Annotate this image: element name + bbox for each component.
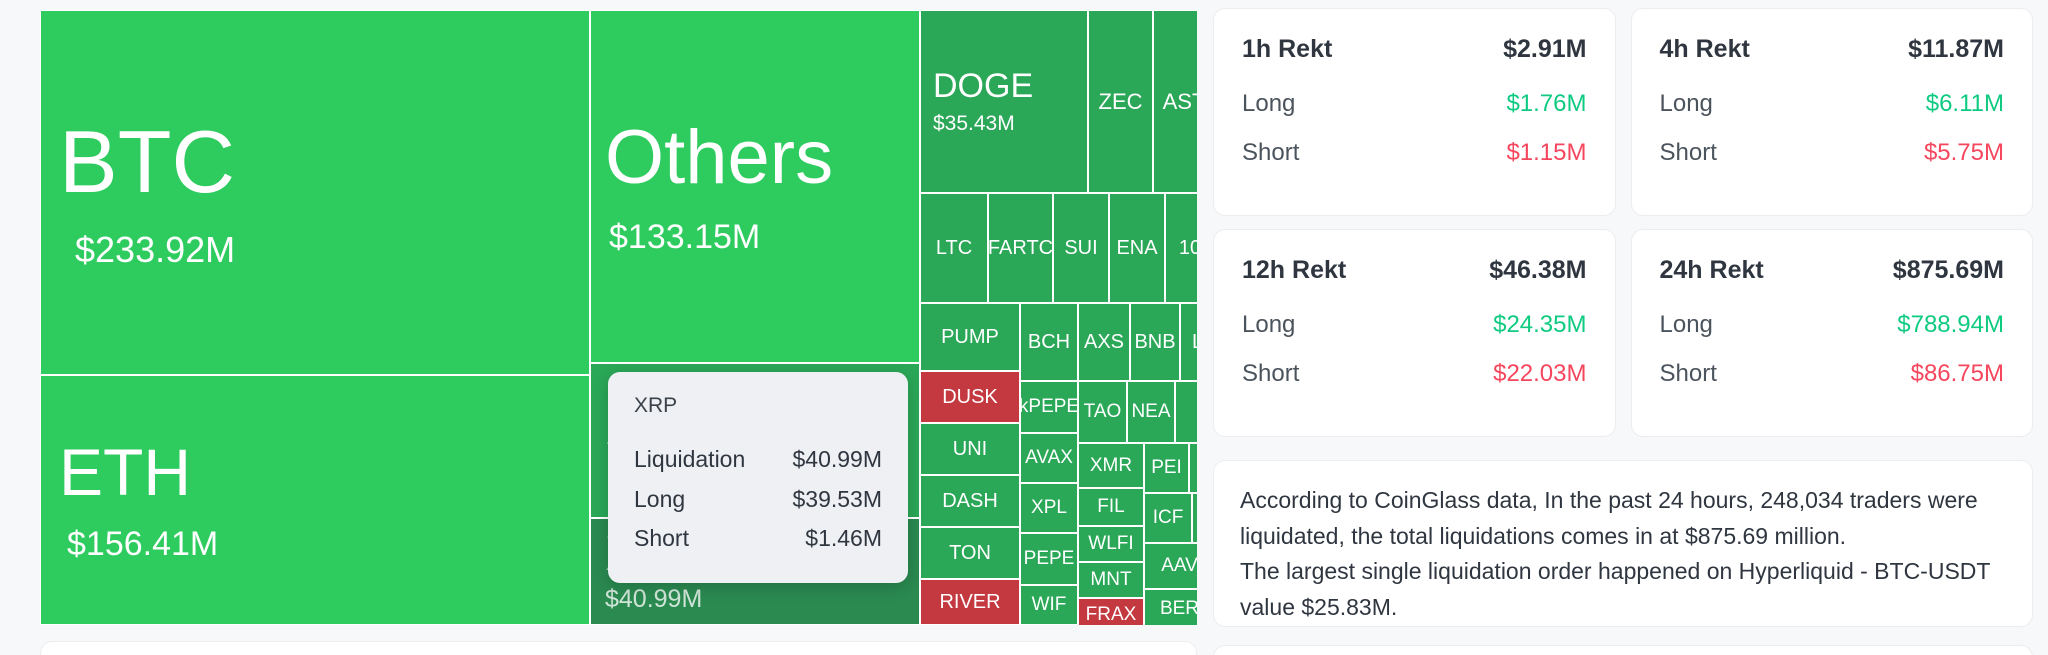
tile-symbol: ICF (1153, 507, 1184, 529)
card-long-label: Long (1242, 90, 1295, 118)
card-row-long: Long $6.11M (1660, 90, 2005, 118)
tile-value: $133.15M (609, 220, 760, 254)
card-long-value: $6.11M (1926, 90, 2004, 118)
card-header: 1h Rekt $2.91M (1242, 35, 1587, 64)
tile-symbol: AST (1163, 89, 1197, 115)
tile-symbol: AVAX (1025, 447, 1073, 469)
card-title: 1h Rekt (1242, 35, 1332, 64)
treemap-tile-others[interactable]: Others $133.15M (590, 10, 920, 363)
tile-symbol: WIF (1032, 594, 1067, 616)
tooltip-label: Liquidation (634, 440, 745, 480)
card-row-long: Long $24.35M (1242, 311, 1587, 339)
tile-symbol: L (1192, 331, 1197, 354)
card-total: $11.87M (1908, 35, 2004, 64)
tile-symbol: MNT (1090, 569, 1131, 591)
tile-symbol: AXS (1084, 331, 1124, 354)
tile-symbol: ENA (1116, 237, 1157, 260)
card-row-short: Short $86.75M (1660, 360, 2005, 388)
treemap-tile-ton[interactable]: TON (920, 527, 1020, 579)
tile-symbol: WLFI (1088, 533, 1133, 555)
tile-symbol: BER (1160, 598, 1197, 620)
card-long-label: Long (1660, 311, 1713, 339)
treemap-tile-frax[interactable]: FRAX (1078, 598, 1144, 625)
card-total: $2.91M (1503, 35, 1586, 64)
card-short-value: $1.15M (1506, 139, 1586, 167)
tile-symbol: RIVER (939, 591, 1000, 614)
next-panel-left[interactable] (40, 641, 1197, 655)
tooltip-row-long: Long $39.53M (634, 480, 882, 520)
tile-symbol: 10 (1179, 237, 1197, 260)
tile-value: $233.92M (75, 232, 235, 268)
tile-symbol: DASH (942, 490, 998, 513)
card-long-label: Long (1660, 90, 1713, 118)
tile-symbol: PEPE (1024, 548, 1075, 570)
rekt-cards: 1h Rekt $2.91M Long $1.76M Short $1.15M … (1213, 8, 2033, 437)
treemap-tile-doge[interactable]: DOGE $35.43M (920, 10, 1088, 193)
card-title: 12h Rekt (1242, 256, 1346, 285)
tile-symbol: BTC (59, 118, 235, 206)
card-long-value: $788.94M (1897, 311, 2004, 339)
treemap-tile-near-right[interactable] (1175, 381, 1197, 443)
treemap-tile-river[interactable]: RIVER (920, 579, 1020, 625)
tooltip-value: $1.46M (805, 519, 882, 559)
tooltip-value: $40.99M (792, 440, 882, 480)
treemap-tile-pendle-right[interactable] (1189, 443, 1197, 493)
tile-symbol: FRAX (1086, 604, 1137, 625)
treemap-tile-kpepe[interactable]: kPEPE (1020, 381, 1078, 433)
treemap-tile-xmr[interactable]: XMR (1078, 443, 1144, 488)
tooltip-row-short: Short $1.46M (634, 519, 882, 559)
card-short-value: $5.75M (1924, 139, 2004, 167)
treemap-tile-pendle[interactable]: PEI (1144, 443, 1189, 493)
card-row-short: Short $1.15M (1242, 139, 1587, 167)
tile-symbol: XMR (1090, 455, 1132, 477)
card-row-short: Short $22.03M (1242, 360, 1587, 388)
tile-value: $156.41M (67, 527, 218, 561)
treemap-tile-near[interactable]: NEA (1127, 381, 1175, 443)
treemap-tile-icp-right[interactable] (1192, 493, 1197, 543)
card-total: $46.38M (1489, 256, 1586, 285)
rekt-card-4h[interactable]: 4h Rekt $11.87M Long $6.11M Short $5.75M (1631, 8, 2034, 216)
rekt-card-24h[interactable]: 24h Rekt $875.69M Long $788.94M Short $8… (1631, 229, 2034, 437)
treemap-tile-axs[interactable]: AXS (1078, 303, 1130, 381)
treemap-tooltip: XRP Liquidation $40.99M Long $39.53M Sho… (608, 372, 908, 583)
card-short-label: Short (1660, 360, 1717, 388)
treemap-tile-fartcoin[interactable]: FARTC (988, 193, 1053, 303)
treemap-tile-ena[interactable]: ENA (1109, 193, 1165, 303)
tile-symbol: DUSK (942, 386, 998, 409)
treemap-tile-dash[interactable]: DASH (920, 475, 1020, 527)
tile-symbol: TON (949, 542, 991, 565)
treemap-tile-link[interactable]: L (1180, 303, 1197, 381)
card-header: 4h Rekt $11.87M (1660, 35, 2005, 64)
tile-symbol: FIL (1097, 496, 1124, 518)
treemap-tile-wlfi[interactable]: WLFI (1078, 526, 1144, 562)
card-header: 12h Rekt $46.38M (1242, 256, 1587, 285)
card-row-long: Long $788.94M (1660, 311, 2005, 339)
tile-symbol: kPEPE (1020, 396, 1078, 418)
tooltip-title: XRP (634, 394, 882, 418)
tile-symbol: LTC (936, 237, 972, 260)
card-row-short: Short $5.75M (1660, 139, 2005, 167)
card-long-value: $1.76M (1506, 90, 1586, 118)
tile-value: $35.43M (933, 113, 1015, 134)
card-header: 24h Rekt $875.69M (1660, 256, 2005, 285)
treemap-tile-zec[interactable]: ZEC (1088, 10, 1153, 193)
rekt-card-1h[interactable]: 1h Rekt $2.91M Long $1.76M Short $1.15M (1213, 8, 1616, 216)
tile-symbol: TAO (1084, 401, 1122, 423)
treemap-tile-btc[interactable]: BTC $233.92M (40, 10, 590, 375)
treemap-tile-ast[interactable]: AST (1153, 10, 1197, 193)
card-short-value: $22.03M (1493, 360, 1586, 388)
tile-symbol: AAV (1161, 555, 1197, 577)
card-short-value: $86.75M (1911, 360, 2004, 388)
tile-symbol: UNI (953, 438, 987, 461)
treemap-tile-mnt[interactable]: MNT (1078, 562, 1144, 598)
tile-value: $40.99M (605, 587, 702, 612)
treemap-tile-bch[interactable]: BCH (1020, 303, 1078, 381)
treemap-tile-bnb[interactable]: BNB (1130, 303, 1180, 381)
tile-symbol: XPL (1031, 497, 1067, 519)
treemap-tile-sui[interactable]: SUI (1053, 193, 1109, 303)
tile-symbol: SUI (1064, 237, 1097, 260)
card-total: $875.69M (1893, 256, 2004, 285)
treemap-tile-tao[interactable]: TAO (1078, 381, 1127, 443)
next-panel-right[interactable] (1213, 645, 2033, 655)
treemap-tile-bera[interactable]: BER (1144, 589, 1197, 625)
tile-symbol: PEI (1151, 457, 1182, 479)
treemap-tile-uni[interactable]: UNI (920, 423, 1020, 475)
card-short-label: Short (1660, 139, 1717, 167)
treemap-tile-pump[interactable]: PUMP (920, 303, 1020, 371)
tile-symbol: DOGE (933, 69, 1033, 103)
treemap-tile-1000x[interactable]: 10 (1165, 193, 1197, 303)
card-title: 24h Rekt (1660, 256, 1764, 285)
treemap-tile-dusk[interactable]: DUSK (920, 371, 1020, 423)
rekt-card-12h[interactable]: 12h Rekt $46.38M Long $24.35M Short $22.… (1213, 229, 1616, 437)
tooltip-row-liquidation: Liquidation $40.99M (634, 440, 882, 480)
tile-symbol: Others (605, 120, 833, 196)
tooltip-value: $39.53M (792, 480, 882, 520)
treemap-tile-wif[interactable]: WIF (1020, 585, 1078, 625)
tile-symbol: BCH (1028, 331, 1070, 354)
card-short-label: Short (1242, 360, 1299, 388)
treemap-tile-pepe[interactable]: PEPE (1020, 533, 1078, 585)
summary-note: According to CoinGlass data, In the past… (1213, 460, 2033, 627)
treemap-tile-eth[interactable]: ETH $156.41M (40, 375, 590, 625)
card-title: 4h Rekt (1660, 35, 1750, 64)
tile-symbol: BNB (1134, 331, 1175, 354)
card-short-label: Short (1242, 139, 1299, 167)
liquidation-dashboard: BTC $233.92M ETH $156.41M Others $133.15… (0, 0, 2048, 655)
treemap-tile-ltc[interactable]: LTC (920, 193, 988, 303)
card-long-value: $24.35M (1493, 311, 1586, 339)
tile-symbol: ZEC (1099, 89, 1143, 115)
tile-symbol: ETH (59, 439, 191, 505)
card-row-long: Long $1.76M (1242, 90, 1587, 118)
tooltip-label: Short (634, 519, 689, 559)
card-long-label: Long (1242, 311, 1295, 339)
treemap-tile-avax[interactable]: AVAX (1020, 433, 1078, 483)
treemap-tile-fil[interactable]: FIL (1078, 488, 1144, 526)
tile-symbol: NEA (1131, 401, 1170, 423)
tile-symbol: FARTC (988, 237, 1053, 260)
treemap-tile-icp[interactable]: ICF (1144, 493, 1192, 543)
note-line-1: According to CoinGlass data, In the past… (1240, 483, 2006, 554)
treemap-tile-xpl[interactable]: XPL (1020, 483, 1078, 533)
tooltip-label: Long (634, 480, 685, 520)
tile-symbol: PUMP (941, 326, 999, 349)
note-line-2: The largest single liquidation order hap… (1240, 554, 2006, 625)
treemap-tile-aave[interactable]: AAV (1144, 543, 1197, 589)
